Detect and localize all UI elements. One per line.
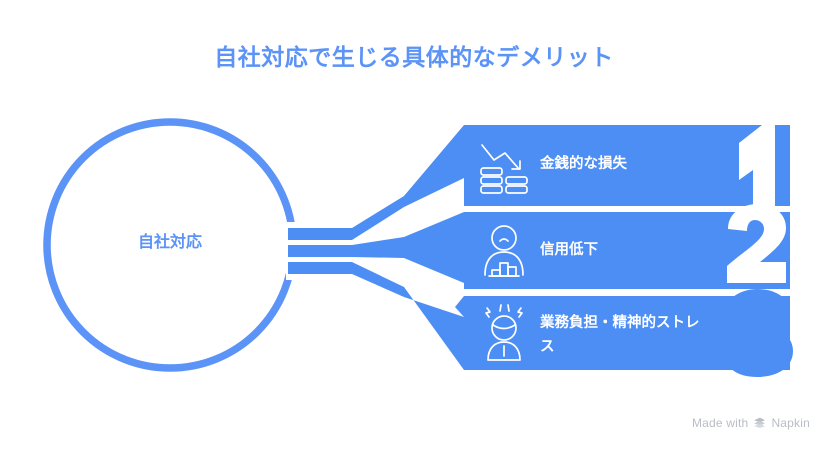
watermark-prefix: Made with <box>692 416 749 430</box>
watermark-brand: Napkin <box>771 416 810 430</box>
watermark: Made with Napkin <box>692 416 810 430</box>
hub-stub-3 <box>288 262 304 274</box>
hub-label: 自社対応 <box>80 232 260 254</box>
item-1-label: 金銭的な損失 <box>540 152 712 176</box>
napkin-logo-icon <box>753 417 766 430</box>
diagram-canvas: 自社対応で生じる具体的なデメリット <box>0 0 828 450</box>
diagram-graphic <box>0 0 828 450</box>
connector-to-item-3 <box>296 262 464 370</box>
hub-stub-2 <box>288 245 304 257</box>
item-2-label: 信用低下 <box>540 238 712 262</box>
item-3-label: 業務負担・精神的ストレス <box>540 311 712 359</box>
hub-stub-1 <box>288 228 304 240</box>
connector-group <box>296 125 464 370</box>
